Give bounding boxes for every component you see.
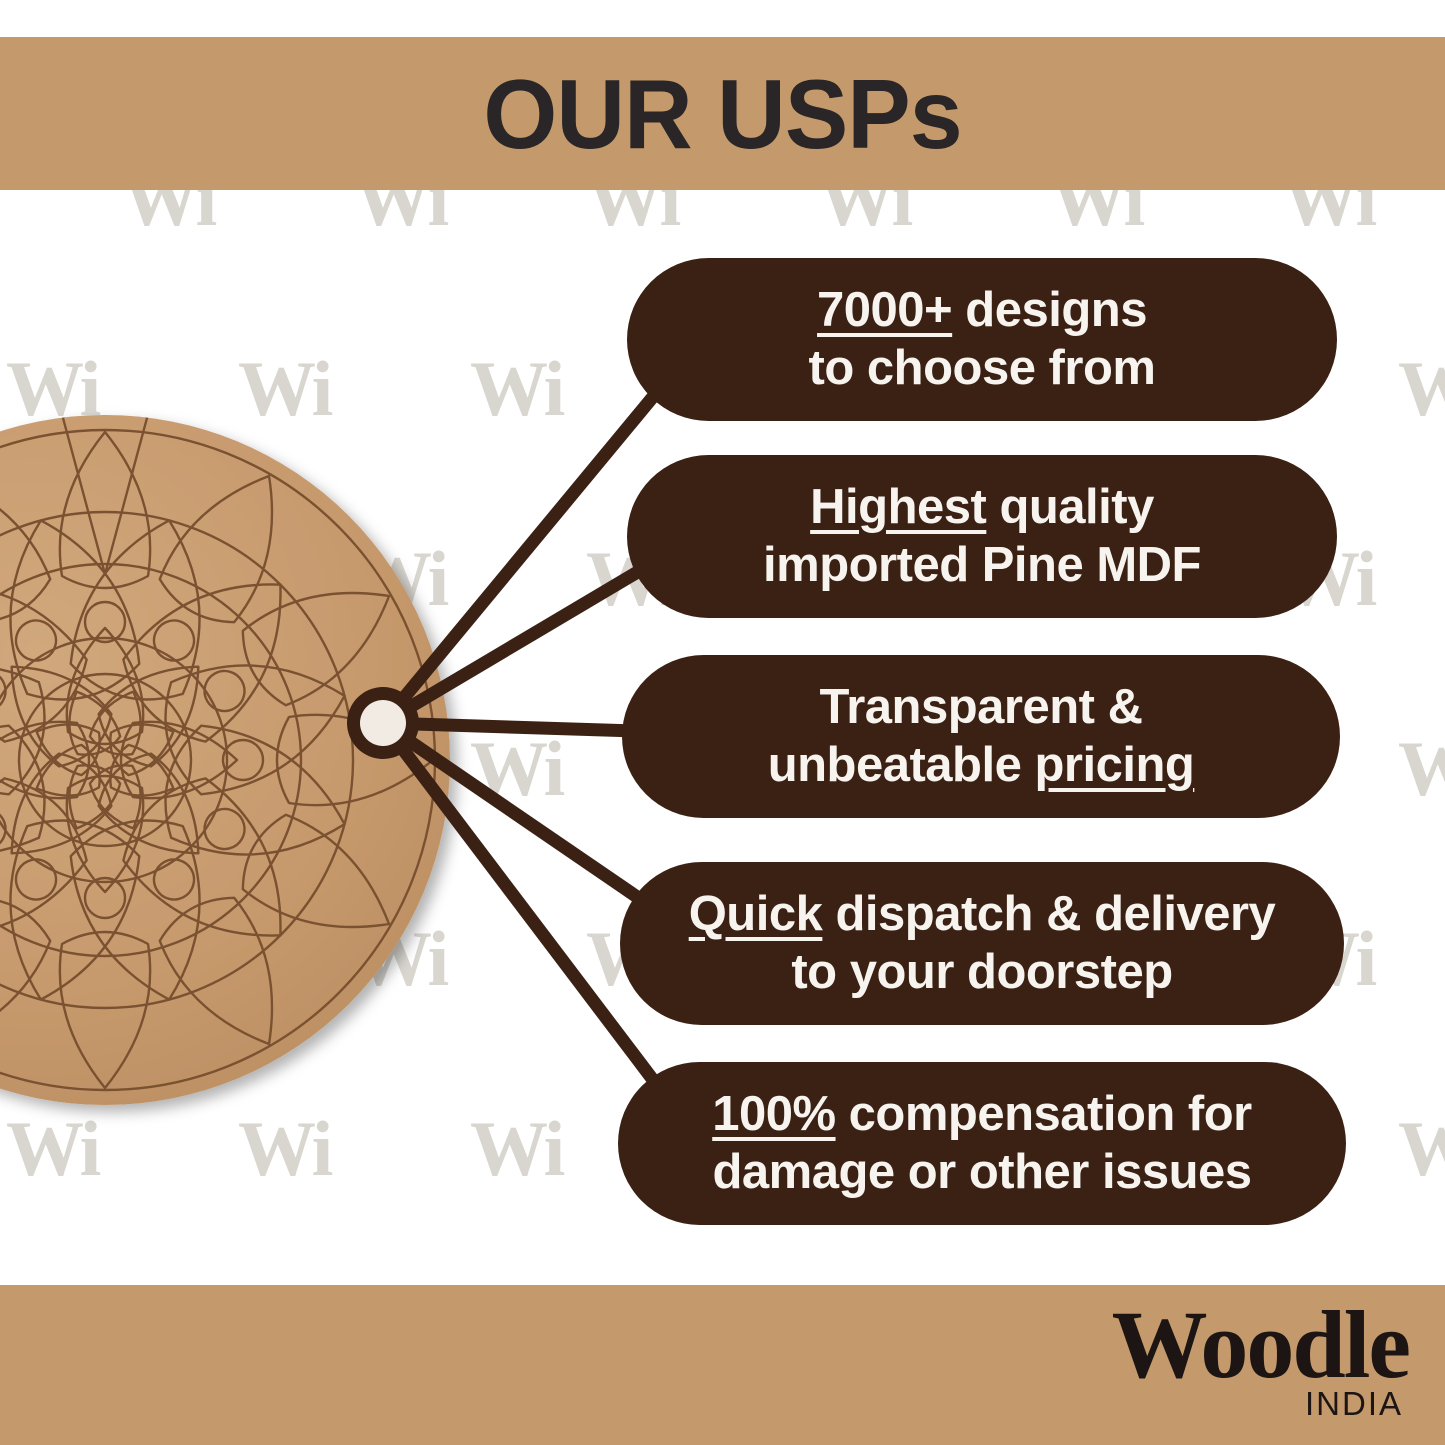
brand-name: Woodle bbox=[1112, 1299, 1409, 1391]
usp-pill-compensation[interactable]: 100% compensation for damage or other is… bbox=[618, 1062, 1346, 1225]
usp-highlight: 7000+ bbox=[817, 283, 952, 337]
usp-line-2: to choose from bbox=[809, 340, 1156, 398]
usp-rest: dispatch & delivery bbox=[822, 887, 1275, 941]
usp-rest-2: to choose from bbox=[809, 341, 1156, 395]
usp-rest: Transparent & bbox=[820, 680, 1143, 734]
usp-rest: compensation for bbox=[836, 1087, 1252, 1141]
usp-highlight: Quick bbox=[689, 887, 823, 941]
usp-line-1: Transparent & bbox=[820, 679, 1143, 737]
usp-rest-2: unbeatable bbox=[768, 738, 1035, 792]
usp-rest-2: imported Pine MDF bbox=[763, 538, 1201, 592]
usp-line-1: 7000+ designs bbox=[817, 282, 1147, 340]
usp-pill-pricing[interactable]: Transparent & unbeatable pricing bbox=[622, 655, 1340, 818]
usp-rest-2: damage or other issues bbox=[712, 1145, 1251, 1199]
brand-logo: Woodle INDIA bbox=[1112, 1299, 1409, 1423]
usp-line-1: Quick dispatch & delivery bbox=[689, 886, 1276, 944]
page-title: OUR USPs bbox=[483, 65, 961, 163]
header-band: OUR USPs bbox=[0, 37, 1445, 190]
usp-pill-material-quality[interactable]: Highest quality imported Pine MDF bbox=[627, 455, 1337, 618]
usp-line-2: unbeatable pricing bbox=[768, 737, 1195, 795]
usp-line-1: 100% compensation for bbox=[712, 1086, 1252, 1144]
usp-rest: quality bbox=[986, 480, 1154, 534]
usp-highlight: Highest bbox=[810, 480, 986, 534]
usp-line-1: Highest quality bbox=[810, 479, 1154, 537]
footer-band: Woodle INDIA bbox=[0, 1285, 1445, 1445]
usp-rest-2: to your doorstep bbox=[791, 945, 1172, 999]
usp-line-2: damage or other issues bbox=[712, 1144, 1251, 1202]
usp-pill-designs-count[interactable]: 7000+ designs to choose from bbox=[627, 258, 1337, 421]
usp-rest: designs bbox=[952, 283, 1147, 337]
usp-highlight-2: pricing bbox=[1034, 738, 1194, 792]
usp-highlight: 100% bbox=[712, 1087, 835, 1141]
usp-line-2: imported Pine MDF bbox=[763, 537, 1201, 595]
usp-pill-stack: 7000+ designs to choose from Highest qua… bbox=[0, 0, 1445, 1445]
infographic-canvas: WiWiWiWiWiWiWiWiWiWiWiWiWiWiWiWiWiWiWiWi… bbox=[0, 0, 1445, 1445]
usp-pill-dispatch-delivery[interactable]: Quick dispatch & delivery to your doorst… bbox=[620, 862, 1344, 1025]
usp-line-2: to your doorstep bbox=[791, 944, 1172, 1002]
